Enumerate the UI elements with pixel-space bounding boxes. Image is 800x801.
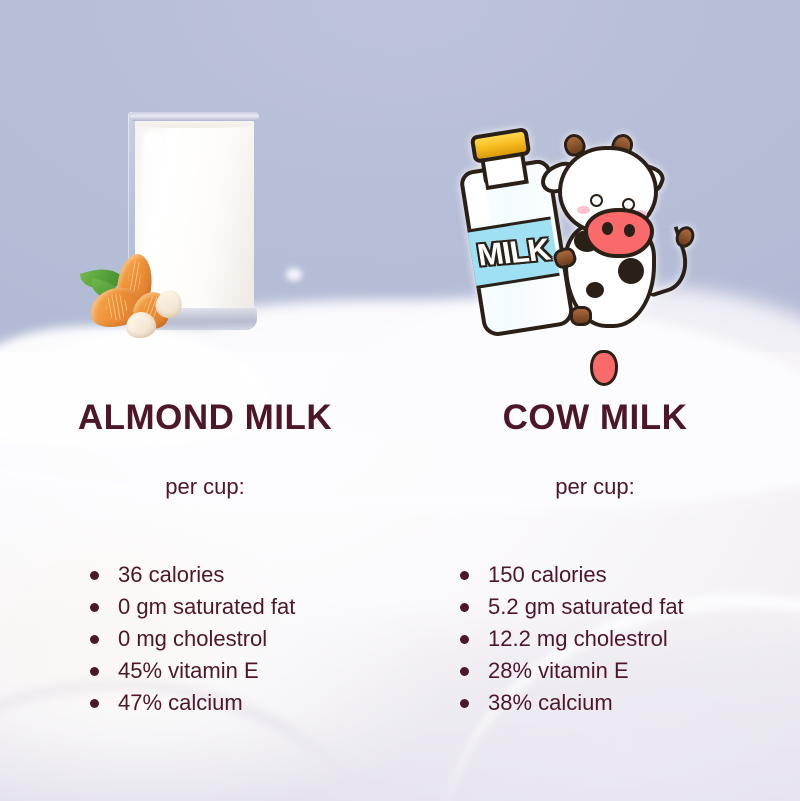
cow-eye-left	[590, 194, 603, 207]
list-item: 45% vitamin E	[88, 656, 400, 686]
list-item: 5.2 gm saturated fat	[458, 592, 790, 622]
list-item: 38% calcium	[458, 688, 790, 718]
milk-droplet	[286, 268, 302, 281]
cow-milk-title: COW MILK	[400, 392, 790, 444]
cartoon-cow	[548, 128, 676, 328]
almond-milk-facts-list: 36 calories 0 gm saturated fat 0 mg chol…	[10, 502, 400, 718]
cow-udder	[590, 350, 618, 386]
cow-cheek-left	[577, 206, 590, 214]
bottle-label-text: MILK	[467, 222, 559, 283]
list-item: 12.2 mg cholestrol	[458, 624, 790, 654]
cow-nostril-left	[602, 222, 613, 235]
almonds-image	[82, 252, 207, 340]
cow-snout	[584, 208, 654, 258]
cow-milk-serving: per cup:	[400, 444, 790, 502]
glass-rim	[130, 112, 259, 121]
column-cow-milk: COW MILK per cup: 150 calories 5.2 gm sa…	[400, 392, 790, 720]
cow-hoof	[570, 306, 592, 326]
column-almond-milk: ALMOND MILK per cup: 36 calories 0 gm sa…	[10, 392, 400, 720]
almond-milk-serving: per cup:	[10, 444, 400, 502]
list-item: 150 calories	[458, 560, 790, 590]
almond-milk-title: ALMOND MILK	[10, 392, 400, 444]
list-item: 28% vitamin E	[458, 656, 790, 686]
cow-spot	[618, 258, 644, 284]
milk-comparison-poster: MILK	[0, 0, 800, 801]
list-item: 0 gm saturated fat	[88, 592, 400, 622]
cow-nostril-right	[624, 224, 635, 237]
cow-spot	[586, 282, 604, 298]
list-item: 47% calcium	[88, 688, 400, 718]
cow-milk-facts-list: 150 calories 5.2 gm saturated fat 12.2 m…	[400, 502, 790, 718]
comparison-columns: ALMOND MILK per cup: 36 calories 0 gm sa…	[0, 392, 800, 722]
list-item: 0 mg cholestrol	[88, 624, 400, 654]
list-item: 36 calories	[88, 560, 400, 590]
cow-with-milk-bottle-image: MILK	[470, 112, 680, 338]
cow-head	[558, 146, 658, 234]
